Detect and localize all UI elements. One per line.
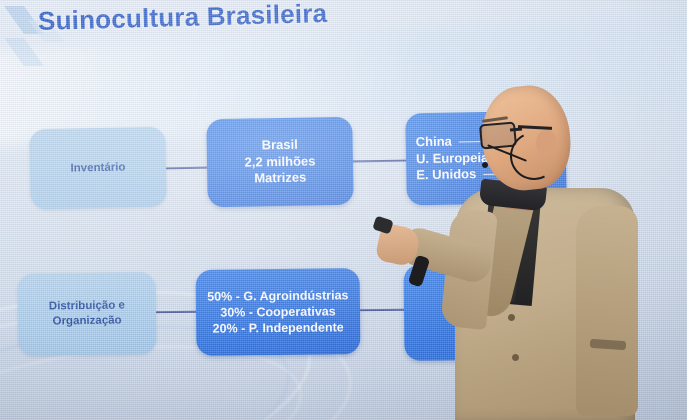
box-line: 20% - P. Independente xyxy=(207,319,348,336)
connector-line xyxy=(160,167,212,170)
diagram-box-percentuais: 50% - G. Agroindústrias 30% - Cooperativ… xyxy=(196,268,361,356)
slide-title: Suinocultura Brasileira xyxy=(38,0,328,37)
box-line: 2,2 milhões xyxy=(244,153,315,171)
box-text-lines: 50% - G. Agroindústrias 30% - Cooperativ… xyxy=(207,287,349,336)
headset-microphone-tip xyxy=(482,162,488,168)
box-label: Inventário xyxy=(70,160,125,176)
right-arm xyxy=(576,206,638,416)
box-line: Organização xyxy=(49,313,125,329)
speaker-figure xyxy=(360,78,687,420)
blazer-button xyxy=(512,354,519,361)
box-text-lines: Brasil 2,2 milhões Matrizes xyxy=(244,136,316,187)
box-text-lines: Distribuição e Organização xyxy=(49,299,125,329)
box-line: 50% - G. Agroindústrias xyxy=(207,287,348,304)
blazer-button xyxy=(508,314,515,321)
diagram-box-inventario: Inventário xyxy=(29,127,167,210)
diagram-box-brasil: Brasil 2,2 milhões Matrizes xyxy=(206,117,354,208)
box-line: Distribuição e xyxy=(49,299,125,315)
presentation-photo: Suinocultura Brasileira Inventário Brasi… xyxy=(0,0,687,420)
box-line: 30% - Cooperativas xyxy=(207,303,348,320)
diagram-box-distribuicao: Distribuição e Organização xyxy=(17,272,156,356)
box-line: Matrizes xyxy=(245,170,316,188)
connector-line xyxy=(150,311,200,313)
box-line: Brasil xyxy=(244,136,315,154)
